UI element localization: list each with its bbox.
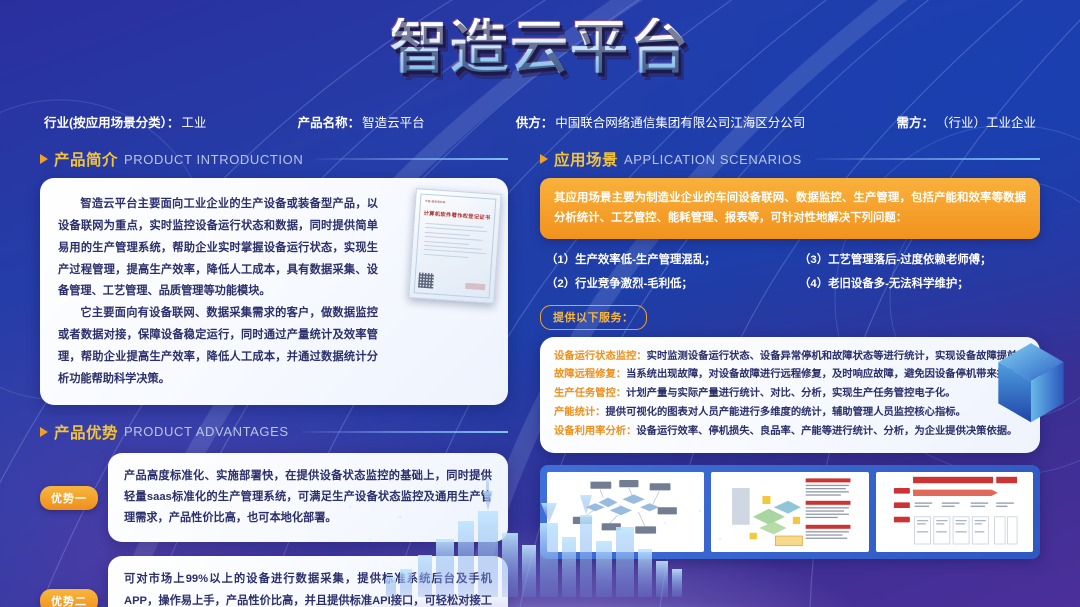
meta-strip: 行业(按应用场景分类）： 工业 产品名称： 智造云平台 供方： 中国联合网络通信… bbox=[0, 112, 1080, 131]
triangle-bullet-icon bbox=[40, 154, 48, 164]
certificate-rule bbox=[423, 254, 468, 258]
service-desc: 计划产量与实际产量进行统计、对比、分析，实现生产任务管控电子化。 bbox=[626, 388, 956, 399]
advantage-row: 优势二 可对市场上99%以上的设备进行数据采集，提供标准系统后台及手机APP，操… bbox=[40, 556, 508, 607]
introduction-paragraph-1: 智造云平台主要面向工业企业的生产设备或装备型产品，以设备联网为重点，实时监控设备… bbox=[58, 194, 378, 303]
meta-product-value: 智造云平台 bbox=[362, 112, 425, 131]
services-label-pill: 提供以下服务： bbox=[540, 305, 647, 330]
certificate-rule bbox=[425, 227, 487, 232]
advantage-text-2: 可对市场上99%以上的设备进行数据采集，提供标准系统后台及手机APP，操作易上手… bbox=[124, 569, 492, 607]
problem-list: （1）生产效率低-生产管理混乱； （3）工艺管理落后-过度依赖老师傅； （2）行… bbox=[546, 251, 1040, 291]
certificate-org: 中国·国家版权局 bbox=[425, 199, 494, 208]
service-item: 设备利用率分析：设备运行效率、停机损失、良品率、产能等进行统计、分析，为企业提供… bbox=[554, 423, 1026, 442]
advantage-card-1: 产品高度标准化、实施部署快，在提供设备状态监控的基础上，同时提供轻量saas标准… bbox=[108, 453, 508, 543]
certificate-rule bbox=[425, 236, 483, 241]
certificate-seal bbox=[465, 283, 485, 290]
screenshot-gallery bbox=[540, 465, 1040, 559]
left-column: 产品简介 PRODUCT INTRODUCTION 智造云平台主要面向工业企业的… bbox=[40, 148, 508, 607]
meta-supplier-label: 供方： bbox=[516, 112, 554, 131]
hero: 智造云平台 bbox=[0, 18, 1080, 76]
meta-industry-label: 行业(按应用场景分类）： bbox=[44, 112, 179, 131]
roadmap-table-thumbnail[interactable] bbox=[876, 472, 1033, 552]
meta-industry-value: 工业 bbox=[181, 112, 206, 131]
triangle-bullet-icon bbox=[40, 427, 48, 437]
service-key: 设备利用率分析： bbox=[554, 426, 636, 437]
problem-item-2: （2）行业竞争激烈-毛利低； bbox=[546, 275, 787, 291]
problem-item-1: （1）生产效率低-生产管理混乱； bbox=[546, 251, 787, 267]
section-header-scenarios: 应用场景 APPLICATION SCENARIOS bbox=[540, 148, 1040, 170]
meta-industry: 行业(按应用场景分类）： 工业 bbox=[44, 112, 206, 131]
scenarios-banner: 其应用场景主要为制造业企业的车间设备联网、数据监控、生产管理，包括产能和效率等数… bbox=[540, 178, 1040, 239]
page-title: 智造云平台 bbox=[390, 18, 690, 76]
section-header-advantages: 产品优势 PRODUCT ADVANTAGES bbox=[40, 421, 508, 443]
qr-code-icon bbox=[418, 273, 434, 289]
architecture-diagram-thumbnail[interactable] bbox=[547, 472, 704, 552]
introduction-card: 智造云平台主要面向工业企业的生产设备或装备型产品，以设备联网为重点，实时监控设备… bbox=[40, 178, 508, 405]
section-title-cn-introduction: 产品简介 bbox=[54, 148, 118, 170]
right-column: 应用场景 APPLICATION SCENARIOS 其应用场景主要为制造业企业… bbox=[540, 148, 1040, 559]
meta-product-label: 产品名称： bbox=[298, 112, 361, 131]
advantage-card-2: 可对市场上99%以上的设备进行数据采集，提供标准系统后台及手机APP，操作易上手… bbox=[108, 556, 508, 607]
certificate-title: 计算机软件著作权登记证书 bbox=[421, 210, 493, 222]
section-title-en-advantages: PRODUCT ADVANTAGES bbox=[124, 424, 289, 439]
problem-item-3: （3）工艺管理落后-过度依赖老师傅； bbox=[799, 251, 1040, 267]
advantage-text-1: 产品高度标准化、实施部署快，在提供设备状态监控的基础上，同时提供轻量saas标准… bbox=[124, 466, 492, 530]
section-title-en-scenarios: APPLICATION SCENARIOS bbox=[624, 152, 802, 167]
cube-decoration-icon bbox=[988, 338, 1074, 430]
meta-demander: 需方： （行业）工业企业 bbox=[896, 112, 1036, 131]
service-item: 生产任务管控：计划产量与实际产量进行统计、对比、分析，实现生产任务管控电子化。 bbox=[554, 385, 1026, 404]
service-key: 生产任务管控： bbox=[554, 388, 626, 399]
triangle-bullet-icon bbox=[540, 154, 548, 164]
service-desc: 设备运行效率、停机损失、良品率、产能等进行统计、分析，为企业提供决策依据。 bbox=[636, 426, 1017, 437]
service-desc: 当系统出现故障，对设备故障进行远程修复，及时响应故障，避免因设备停机带来损失。 bbox=[626, 369, 1028, 380]
meta-product: 产品名称： 智造云平台 bbox=[298, 112, 425, 131]
service-item: 产能统计：提供可视化的图表对人员产能进行多维度的统计，辅助管理人员监控核心指标。 bbox=[554, 404, 1026, 423]
introduction-paragraph-2: 它主要面向有设备联网、数据采集需求的客户，做数据监控或者数据对接，保障设备稳定运… bbox=[58, 303, 378, 390]
service-key: 故障远程修复： bbox=[554, 369, 626, 380]
problem-item-4: （4）老旧设备多-无法科学维护； bbox=[799, 275, 1040, 291]
certificate-image: 中国·国家版权局 计算机软件著作权登记证书 bbox=[408, 188, 501, 304]
service-item: 设备运行状态监控：实时监测设备运行状态、设备异常停机和故障状态等进行统计，实现设… bbox=[554, 348, 1026, 367]
service-key: 产能统计： bbox=[554, 407, 605, 418]
poster-root: 智造云平台 行业(按应用场景分类）： 工业 产品名称： 智造云平台 供方： 中国… bbox=[0, 0, 1080, 607]
service-desc: 提供可视化的图表对人员产能进行多维度的统计，辅助管理人员监控核心指标。 bbox=[605, 407, 965, 418]
services-card: 设备运行状态监控：实时监测设备运行状态、设备异常停机和故障状态等进行统计，实现设… bbox=[540, 337, 1040, 454]
certificate-rule bbox=[425, 223, 483, 228]
meta-demander-label: 需方： bbox=[896, 112, 934, 131]
factory-isometric-thumbnail[interactable] bbox=[711, 472, 868, 552]
meta-demander-value: （行业）工业企业 bbox=[936, 112, 1036, 131]
certificate-rule bbox=[425, 232, 470, 236]
section-title-en-introduction: PRODUCT INTRODUCTION bbox=[124, 152, 303, 167]
section-rule-scenarios bbox=[815, 158, 1040, 160]
section-title-cn-scenarios: 应用场景 bbox=[554, 148, 618, 170]
advantage-row: 优势一 产品高度标准化、实施部署快，在提供设备状态监控的基础上，同时提供轻量sa… bbox=[40, 453, 508, 543]
service-key: 设备运行状态监控： bbox=[554, 351, 647, 362]
certificate-rule bbox=[424, 240, 469, 244]
meta-supplier: 供方： 中国联合网络通信集团有限公司江海区分公司 bbox=[516, 112, 806, 131]
section-title-cn-advantages: 产品优势 bbox=[54, 421, 118, 443]
section-header-introduction: 产品简介 PRODUCT INTRODUCTION bbox=[40, 148, 508, 170]
section-rule-advantages bbox=[302, 431, 508, 433]
service-item: 故障远程修复：当系统出现故障，对设备故障进行远程修复，及时响应故障，避免因设备停… bbox=[554, 366, 1026, 385]
meta-supplier-value: 中国联合网络通信集团有限公司江海区分公司 bbox=[555, 112, 805, 131]
certificate-rule bbox=[424, 245, 482, 250]
advantage-badge-1: 优势一 bbox=[40, 486, 98, 510]
section-rule-introduction bbox=[316, 158, 508, 160]
certificate-rule bbox=[424, 249, 486, 254]
advantage-badge-2: 优势二 bbox=[40, 589, 98, 607]
